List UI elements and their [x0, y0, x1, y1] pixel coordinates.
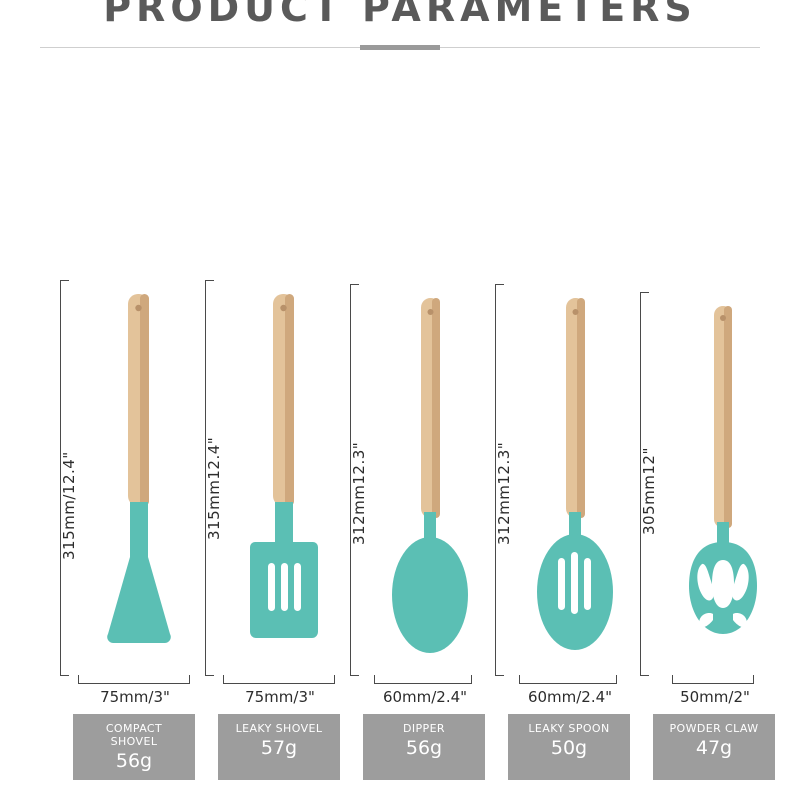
- width-bracket-line: [672, 683, 754, 684]
- width-bracket-tick-left: [223, 675, 224, 684]
- width-bracket: [223, 674, 335, 684]
- width-bracket: [374, 674, 472, 684]
- product-label-box: POWDER CLAW 47g: [653, 714, 775, 780]
- length-bracket-tick-bottom: [640, 675, 649, 676]
- width-bracket-tick-right: [471, 675, 472, 684]
- width-label: 75mm/3": [60, 688, 210, 706]
- product-name-line1: COMPACT: [73, 722, 195, 735]
- product-name-line1: DIPPER: [363, 722, 485, 735]
- product-weight: 56g: [73, 750, 195, 772]
- length-bracket-tick-bottom: [205, 675, 214, 676]
- divider-accent-bar: [360, 45, 440, 50]
- length-bracket-tick-top: [205, 280, 214, 281]
- product-name-line1: LEAKY SPOON: [508, 722, 630, 735]
- width-bracket-tick-left: [672, 675, 673, 684]
- product-name-line1: LEAKY SHOVEL: [218, 722, 340, 735]
- length-label: 315mm12.4": [205, 437, 223, 540]
- product-item-dipper: 312mm12.3" 60mm/2.4" DIPPER 56g: [350, 270, 500, 780]
- product-item-leaky-shovel: 315mm12.4" 75mm/3" LEAKY SHOVEL 57g: [205, 270, 355, 780]
- width-bracket-tick-right: [616, 675, 617, 684]
- product-item-powder-claw: 305mm12" 50mm/2" POWDER CLAW 47g: [640, 270, 790, 780]
- width-bracket-tick-left: [519, 675, 520, 684]
- width-bracket-tick-right: [189, 675, 190, 684]
- product-name-line1: POWDER CLAW: [653, 722, 775, 735]
- product-label-box: LEAKY SPOON 50g: [508, 714, 630, 780]
- width-bracket-tick-right: [334, 675, 335, 684]
- width-bracket: [519, 674, 617, 684]
- product-label-box: DIPPER 56g: [363, 714, 485, 780]
- length-bracket-tick-bottom: [60, 675, 69, 676]
- width-bracket-tick-left: [374, 675, 375, 684]
- length-bracket-tick-bottom: [495, 675, 504, 676]
- width-bracket: [78, 674, 190, 684]
- utensil-illustration-dipper: [368, 280, 496, 680]
- utensil-illustration-powder-claw: [658, 280, 786, 680]
- product-name-line2: SHOVEL: [73, 735, 195, 748]
- length-bracket-tick-bottom: [350, 675, 359, 676]
- width-label: 75mm/3": [205, 688, 355, 706]
- product-weight: 57g: [218, 737, 340, 759]
- width-label: 50mm/2": [640, 688, 790, 706]
- length-label: 312mm12.3": [495, 442, 513, 545]
- width-bracket-line: [374, 683, 472, 684]
- product-item-leaky-spoon: 312mm12.3" 60mm/2.4" LEAKY SPOON 50g: [495, 270, 645, 780]
- utensil-illustration-compact-shovel: [78, 280, 206, 680]
- page-title: PRODUCT PARAMETERS: [0, 0, 800, 30]
- length-label: 315mm/12.4": [60, 451, 78, 560]
- width-label: 60mm/2.4": [350, 688, 500, 706]
- length-bracket-tick-top: [350, 284, 359, 285]
- length-bracket-tick-top: [495, 284, 504, 285]
- width-bracket-tick-right: [753, 675, 754, 684]
- width-bracket-line: [519, 683, 617, 684]
- length-label: 312mm12.3": [350, 442, 368, 545]
- header-divider: [40, 45, 760, 51]
- page-header: PRODUCT PARAMETERS: [0, 0, 800, 56]
- product-weight: 50g: [508, 737, 630, 759]
- product-label-box: LEAKY SHOVEL 57g: [218, 714, 340, 780]
- product-label-box: COMPACT SHOVEL 56g: [73, 714, 195, 780]
- product-spec-row: 315mm/12.4" 75mm/3" COMPACT SHOVEL 56g: [0, 270, 800, 780]
- length-label: 305mm12": [640, 447, 658, 535]
- utensil-illustration-leaky-shovel: [223, 280, 351, 680]
- product-weight: 56g: [363, 737, 485, 759]
- utensil-illustration-leaky-spoon: [513, 280, 641, 680]
- width-bracket-tick-left: [78, 675, 79, 684]
- length-bracket-tick-top: [640, 292, 649, 293]
- product-item-compact-shovel: 315mm/12.4" 75mm/3" COMPACT SHOVEL 56g: [60, 270, 210, 780]
- product-weight: 47g: [653, 737, 775, 759]
- width-bracket-line: [78, 683, 190, 684]
- length-bracket-tick-top: [60, 280, 69, 281]
- width-bracket: [672, 674, 754, 684]
- width-label: 60mm/2.4": [495, 688, 645, 706]
- width-bracket-line: [223, 683, 335, 684]
